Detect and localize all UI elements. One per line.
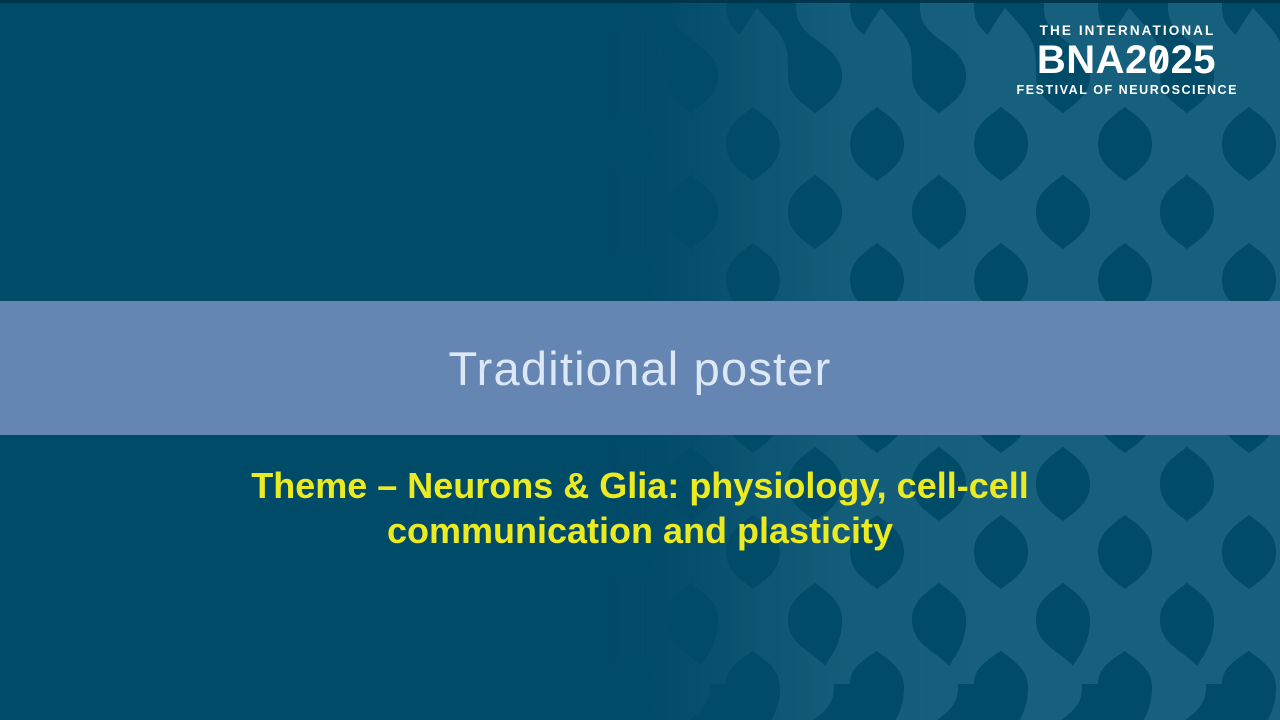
logo-wordmark-part-2: 25 <box>1171 38 1217 82</box>
theme-title: Theme – Neurons & Glia: physiology, cell… <box>150 463 1130 554</box>
logo-tagline-top: THE INTERNATIONAL <box>1015 24 1238 38</box>
logo-wordmark-part-1: BNA2 <box>1037 38 1148 82</box>
top-edge-rule <box>0 0 1280 3</box>
logo-wordmark: BNA2025 <box>1015 41 1238 80</box>
bna2025-logo: THE INTERNATIONAL BNA2025 FESTIVAL OF NE… <box>1015 24 1238 96</box>
theme-block: Theme – Neurons & Glia: physiology, cell… <box>0 463 1280 554</box>
session-type-band: Traditional poster <box>0 301 1280 435</box>
logo-tagline-bottom: FESTIVAL OF NEUROSCIENCE <box>1015 84 1238 97</box>
logo-wordmark-zero: 0 <box>1148 41 1171 80</box>
session-type-title: Traditional poster <box>449 341 832 396</box>
presentation-slide: THE INTERNATIONAL BNA2025 FESTIVAL OF NE… <box>0 0 1280 720</box>
